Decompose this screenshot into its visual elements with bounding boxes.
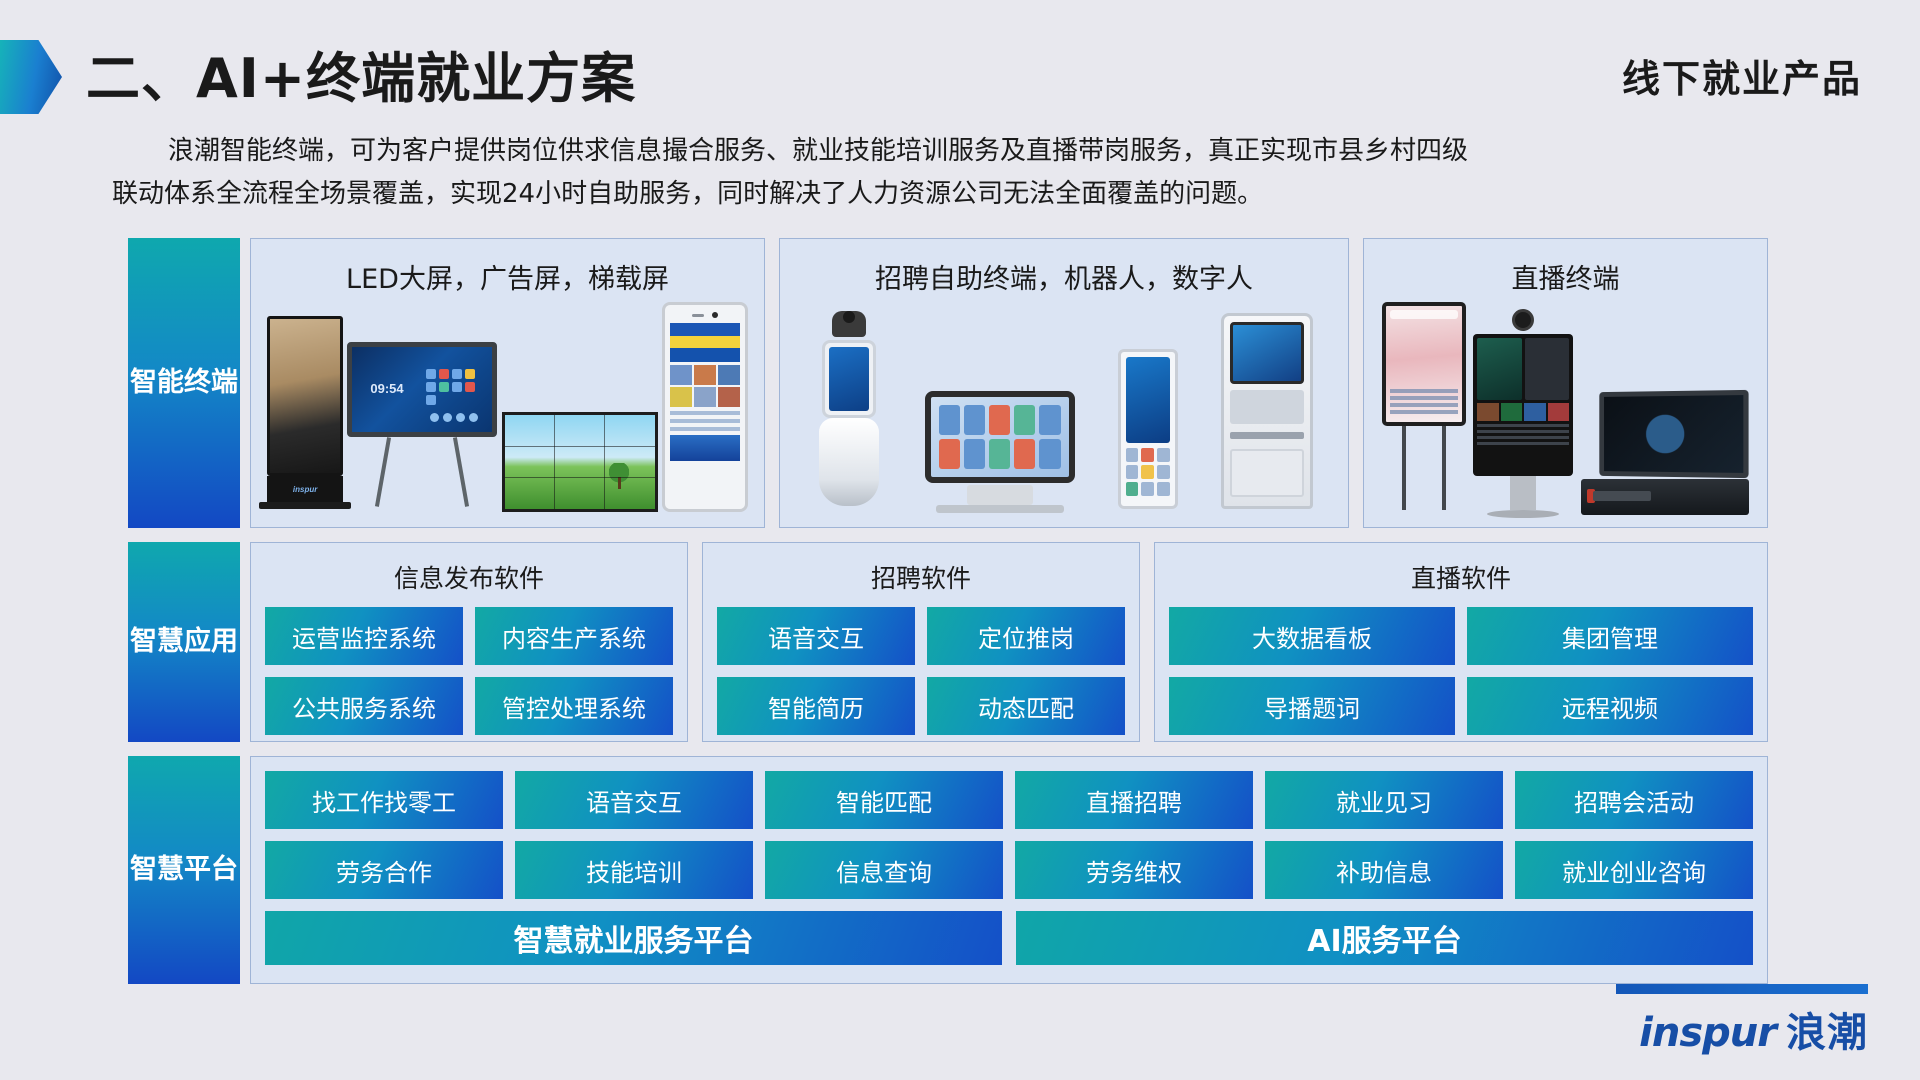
panel-title: 直播终端 (1364, 249, 1767, 302)
group-info-publishing-software[interactable]: 信息发布软件 运营监控系统 内容生产系统 公共服务系统 管控处理系统 (250, 542, 688, 742)
group-title: 直播软件 (1169, 553, 1753, 607)
inspur-logo: inspur浪潮 (1616, 984, 1868, 1058)
apps-groups: 信息发布软件 运营监控系统 内容生产系统 公共服务系统 管控处理系统 招聘软件 … (250, 542, 1768, 742)
panel-live-terminals[interactable]: 直播终端 (1363, 238, 1768, 528)
side-label-apps: 智慧应用 (128, 542, 240, 742)
chip-grid: 大数据看板 集团管理 导播题词 远程视频 (1169, 607, 1753, 735)
chip-app[interactable]: 定位推岗 (927, 607, 1125, 665)
chip-app[interactable]: 智能简历 (717, 677, 915, 735)
chip-app[interactable]: 语音交互 (717, 607, 915, 665)
chip-grid: 语音交互 定位推岗 智能简历 动态匹配 (717, 607, 1125, 735)
intro-line-2: 联动体系全流程全场景覆盖，实现24小时自助服务，同时解决了人力资源公司无法全面覆… (112, 173, 1812, 216)
platform-chip-grid: 找工作找零工 语音交互 智能匹配 直播招聘 就业见习 招聘会活动 劳务合作 技能… (265, 771, 1753, 899)
chip-service[interactable]: 补助信息 (1265, 841, 1503, 899)
header-right-label: 线下就业产品 (1622, 48, 1862, 103)
device-live-stream-screen-icon (1382, 302, 1466, 517)
device-service-robot-icon (816, 304, 882, 509)
group-live-software[interactable]: 直播软件 大数据看板 集团管理 导播题词 远程视频 (1154, 542, 1768, 742)
chip-service[interactable]: 劳务合作 (265, 841, 503, 899)
side-label-terminals: 智能终端 (128, 238, 240, 528)
group-recruitment-software[interactable]: 招聘软件 语音交互 定位推岗 智能简历 动态匹配 (702, 542, 1140, 742)
chip-service[interactable]: 找工作找零工 (265, 771, 503, 829)
chip-app[interactable]: 运营监控系统 (265, 607, 463, 665)
intro-paragraph: 浪潮智能终端，可为客户提供岗位供求信息撮合服务、就业技能培训服务及直播带岗服务，… (112, 130, 1812, 216)
terminals-panels: LED大屏，广告屏，梯载屏 inspur 09:54 (250, 238, 1768, 528)
device-self-service-kiosk-icon (1221, 313, 1313, 509)
header-arrow-icon (0, 40, 62, 114)
chip-app[interactable]: 内容生产系统 (475, 607, 673, 665)
platform-bar-employment[interactable]: 智慧就业服务平台 (265, 911, 1002, 965)
device-digital-human-studio-icon (1473, 309, 1573, 517)
chip-service[interactable]: 智能匹配 (765, 771, 1003, 829)
platform-body: 找工作找零工 语音交互 智能匹配 直播招聘 就业见习 招聘会活动 劳务合作 技能… (250, 756, 1768, 984)
band-platform: 智慧平台 找工作找零工 语音交互 智能匹配 直播招聘 就业见习 招聘会活动 劳务… (128, 756, 1768, 984)
chip-service[interactable]: 就业见习 (1265, 771, 1503, 829)
group-title: 招聘软件 (717, 553, 1125, 607)
panel-title: 招聘自助终端，机器人，数字人 (780, 249, 1348, 302)
device-group (1364, 302, 1767, 527)
device-poster-kiosk-icon: inspur (267, 316, 343, 512)
chip-service[interactable]: 语音交互 (515, 771, 753, 829)
device-group (780, 302, 1348, 519)
device-video-wall-icon (502, 412, 658, 512)
intro-line-1: 浪潮智能终端，可为客户提供岗位供求信息撮合服务、就业技能培训服务及直播带岗服务，… (112, 130, 1812, 173)
device-tablet-terminal-icon (1118, 349, 1178, 509)
device-all-in-one-desktop-icon (925, 391, 1075, 509)
device-group: inspur 09:54 (251, 302, 764, 522)
chip-service[interactable]: 直播招聘 (1015, 771, 1253, 829)
chip-app[interactable]: 公共服务系统 (265, 677, 463, 735)
chip-service[interactable]: 技能培训 (515, 841, 753, 899)
group-title: 信息发布软件 (265, 553, 673, 607)
band-terminals: 智能终端 LED大屏，广告屏，梯载屏 inspur 09:54 (128, 238, 1768, 528)
chip-service[interactable]: 就业创业咨询 (1515, 841, 1753, 899)
chip-grid: 运营监控系统 内容生产系统 公共服务系统 管控处理系统 (265, 607, 673, 735)
chip-app[interactable]: 导播题词 (1169, 677, 1455, 735)
device-portable-broadcast-case-icon (1581, 391, 1749, 517)
panel-recruitment-terminals[interactable]: 招聘自助终端，机器人，数字人 (779, 238, 1349, 528)
band-apps: 智慧应用 信息发布软件 运营监控系统 内容生产系统 公共服务系统 管控处理系统 … (128, 542, 1768, 742)
page-title: 二、AI+终端就业方案 (86, 34, 636, 113)
chip-service[interactable]: 劳务维权 (1015, 841, 1253, 899)
panel-led-screens[interactable]: LED大屏，广告屏，梯载屏 inspur 09:54 (250, 238, 765, 528)
chip-app[interactable]: 大数据看板 (1169, 607, 1455, 665)
logo-text-en: inspur (1639, 1010, 1776, 1056)
platform-bars: 智慧就业服务平台 AI服务平台 (265, 911, 1753, 965)
logo-rule (1616, 984, 1868, 994)
chip-app[interactable]: 动态匹配 (927, 677, 1125, 735)
platform-bar-ai[interactable]: AI服务平台 (1016, 911, 1753, 965)
chip-service[interactable]: 招聘会活动 (1515, 771, 1753, 829)
architecture-diagram: 智能终端 LED大屏，广告屏，梯载屏 inspur 09:54 (128, 238, 1768, 984)
side-label-platform: 智慧平台 (128, 756, 240, 984)
logo-text: inspur浪潮 (1616, 1000, 1868, 1058)
device-elevator-screen-icon (662, 302, 748, 512)
logo-text-cn: 浪潮 (1786, 1010, 1868, 1056)
device-interactive-whiteboard-icon: 09:54 (347, 342, 497, 512)
panel-title: LED大屏，广告屏，梯载屏 (251, 249, 764, 302)
chip-service[interactable]: 信息查询 (765, 841, 1003, 899)
chip-app[interactable]: 管控处理系统 (475, 677, 673, 735)
page-header: 二、AI+终端就业方案 线下就业产品 (0, 34, 1920, 114)
chip-app[interactable]: 集团管理 (1467, 607, 1753, 665)
chip-app[interactable]: 远程视频 (1467, 677, 1753, 735)
